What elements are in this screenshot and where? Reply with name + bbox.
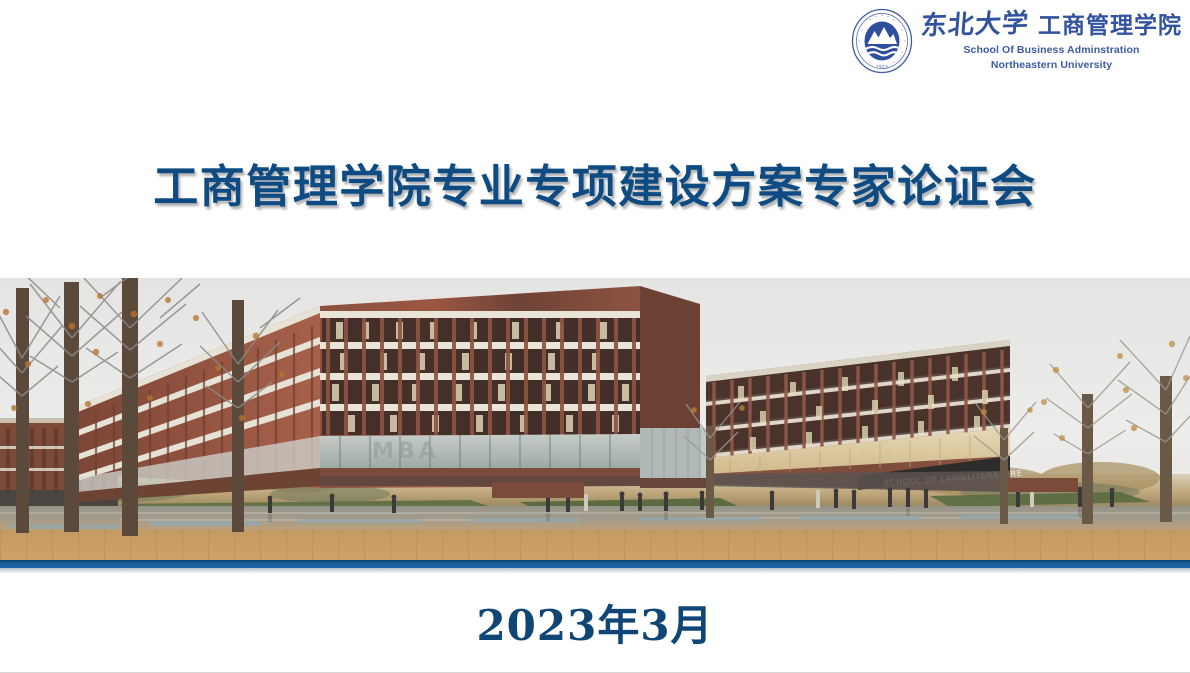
title-area: 工商管理学院专业专项建设方案专家论证会 (0, 150, 1190, 215)
campus-building-rendering: MBA (0, 278, 1190, 560)
logo-school-name-cn: 工商管理学院 (1038, 15, 1182, 38)
slide-date: 2023年3月 (476, 592, 713, 653)
blue-divider-bar (0, 560, 1190, 574)
logo-chinese-line: 东北大学 工商管理学院 (921, 12, 1182, 38)
logo-school-name-en: School Of Business Adminstration (963, 43, 1139, 57)
divider-shadow-fade (0, 568, 1190, 574)
mba-signage-text: MBA (372, 439, 440, 464)
logo-text-block: 东北大学 工商管理学院 School Of Business Adminstra… (921, 10, 1182, 71)
logo-english-block: School Of Business Adminstration Northea… (963, 43, 1139, 71)
date-area: 2023年3月 (0, 592, 1190, 653)
slide-title: 工商管理学院专业专项建设方案专家论证会 (153, 150, 1037, 215)
logo-university-name-cn: 东北大学 (920, 11, 1030, 40)
title-slide: 1923 东北大学 工商管理学院 School Of Business Admi… (0, 0, 1190, 672)
institution-logo-lockup: 1923 东北大学 工商管理学院 School Of Business Admi… (851, 8, 1182, 74)
logo-university-name-en: Northeastern University (963, 58, 1139, 72)
neu-seal-emblem-icon: 1923 (851, 8, 913, 74)
divider-bar-fill (0, 560, 1190, 568)
svg-text:1923: 1923 (876, 65, 888, 70)
